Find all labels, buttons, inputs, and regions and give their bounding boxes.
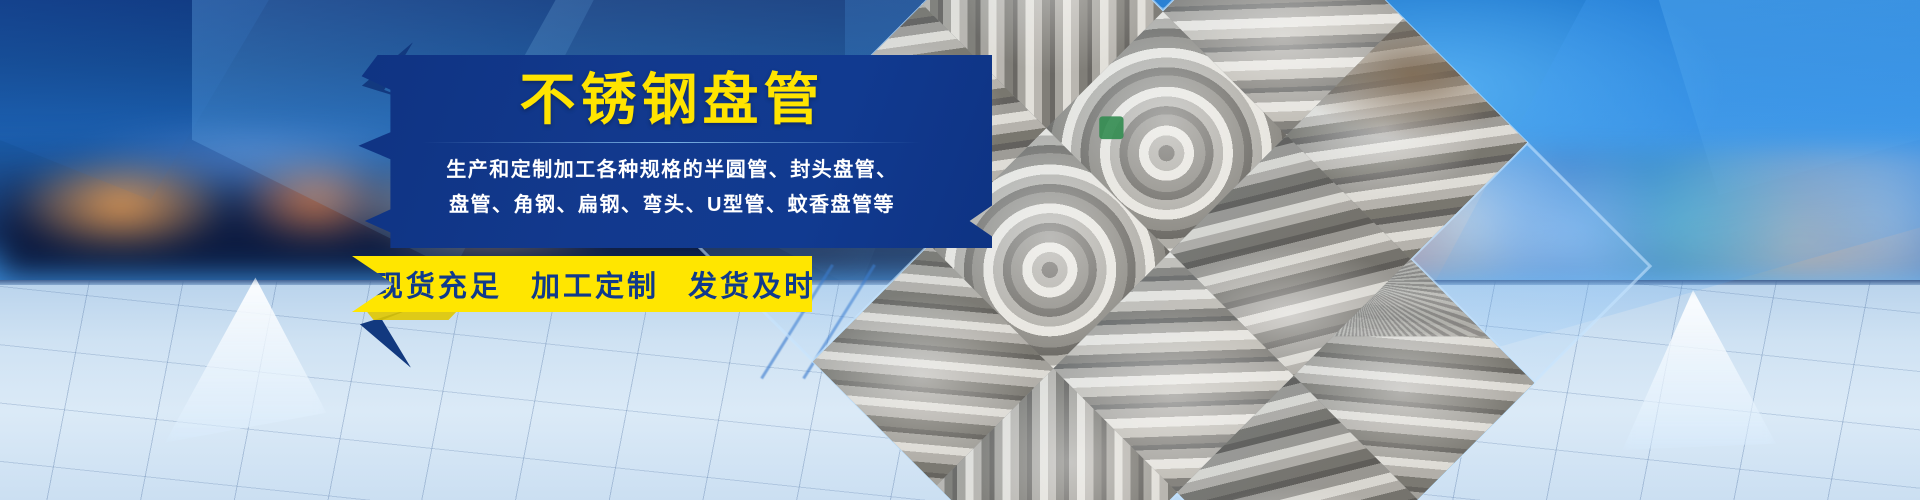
slogan-item-1: 现货充足 — [365, 271, 511, 303]
slogan-text: 现货充足 加工定制 发货及时 — [339, 263, 825, 305]
slogan-ribbon-wrapper: 现货充足 加工定制 发货及时 — [352, 256, 812, 312]
slogan-ribbon: 现货充足 加工定制 发货及时 — [352, 256, 812, 312]
slogan-item-2: 加工定制 — [522, 271, 668, 303]
title-divider — [422, 142, 921, 143]
promo-banner: 不锈钢盘管 生产和定制加工各种规格的半圆管、封头盘管、 盘管、角钢、扁钢、弯头、… — [0, 0, 1920, 500]
page-title: 不锈钢盘管 — [520, 69, 825, 132]
headline-card: 不锈钢盘管 生产和定制加工各种规格的半圆管、封头盘管、 盘管、角钢、扁钢、弯头、… — [352, 55, 992, 248]
slogan-item-3: 发货及时 — [679, 271, 825, 303]
subtitle-line-2: 盘管、角钢、扁钢、弯头、U型管、蚊香盘管等 — [446, 188, 898, 224]
subtitle-line-1: 生产和定制加工各种规格的半圆管、封头盘管、 — [446, 153, 898, 189]
page-subtitle: 生产和定制加工各种规格的半圆管、封头盘管、 盘管、角钢、扁钢、弯头、U型管、蚊香… — [446, 153, 898, 224]
